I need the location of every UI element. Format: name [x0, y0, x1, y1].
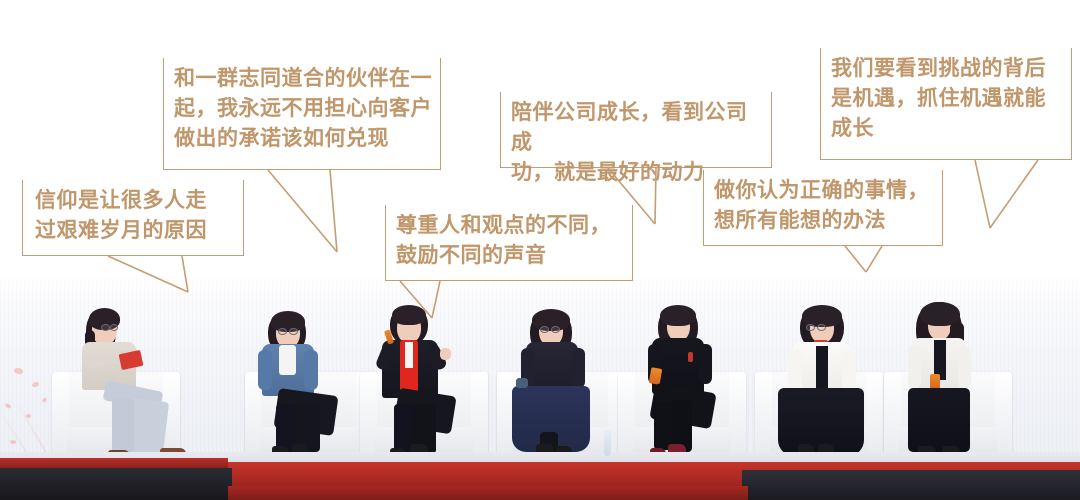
scene-root: 信仰是让很多人走 过艰难岁月的原因 和一群志同道合的伙伴在一 起，我永远不用担心… [0, 0, 1080, 500]
speech-bubble-opportunity-tail [0, 0, 1080, 500]
